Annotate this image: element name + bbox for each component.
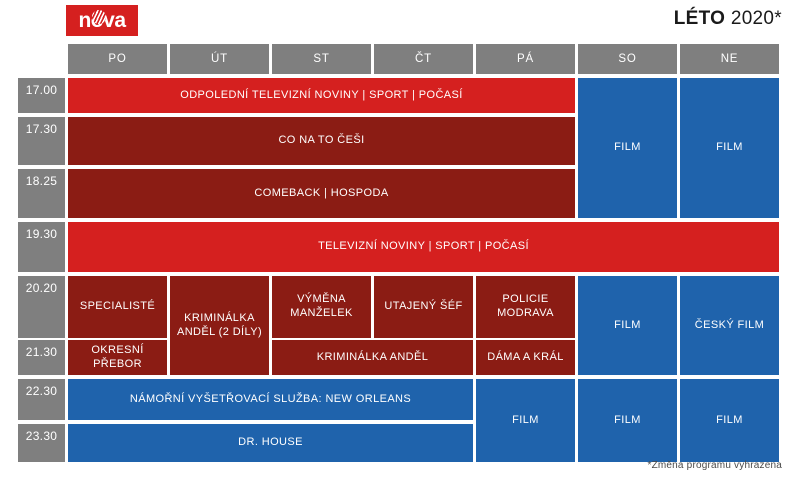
program-cell[interactable]: FILM — [578, 276, 677, 375]
program-cell[interactable]: OKRESNÍ PŘEBOR — [68, 340, 167, 375]
program-cell[interactable]: FILM — [578, 379, 677, 462]
program-cell[interactable]: FILM — [680, 379, 779, 462]
day-header-so: SO — [578, 44, 677, 74]
day-header-ne: NE — [680, 44, 779, 74]
program-cell[interactable]: KRIMINÁLKA ANDĚL — [272, 340, 473, 375]
program-cell[interactable]: NÁMOŘNÍ VYŠETŘOVACÍ SLUŽBA: NEW ORLEANS — [68, 379, 473, 420]
program-cell[interactable]: POLICIE MODRAVA — [476, 276, 575, 338]
time-slot-22-30: 22.30 — [18, 379, 65, 420]
program-cell[interactable]: ČESKÝ FILM — [680, 276, 779, 375]
program-cell[interactable]: FILM — [680, 78, 779, 218]
day-header-pá: PÁ — [476, 44, 575, 74]
program-cell[interactable]: FILM — [578, 78, 677, 218]
footnote: *Změna programu vyhrazena — [647, 460, 782, 471]
program-cell[interactable]: CO NA TO ČEŠI — [68, 117, 575, 165]
time-slot-17-00: 17.00 — [18, 78, 65, 113]
day-header-út: ÚT — [170, 44, 269, 74]
program-cell[interactable]: ODPOLEDNÍ TELEVIZNÍ NOVINY | SPORT | POČ… — [68, 78, 575, 113]
program-cell[interactable]: KRIMINÁLKA ANDĚL (2 DÍLY) — [170, 276, 269, 375]
program-cell[interactable]: COMEBACK | HOSPODA — [68, 169, 575, 218]
program-cell[interactable]: FILM — [476, 379, 575, 462]
day-header-čt: ČT — [374, 44, 473, 74]
day-header-st: ST — [272, 44, 371, 74]
tv-schedule-grid: POÚTSTČTPÁSONE17.0017.3018.2519.3020.202… — [0, 0, 800, 482]
program-cell[interactable]: VÝMĚNA MANŽELEK — [272, 276, 371, 338]
program-cell[interactable]: DR. HOUSE — [68, 424, 473, 462]
program-cell[interactable]: UTAJENÝ ŠÉF — [374, 276, 473, 338]
time-slot-17-30: 17.30 — [18, 117, 65, 165]
program-cell[interactable]: DÁMA A KRÁL — [476, 340, 575, 375]
time-slot-19-30: 19.30 — [18, 222, 65, 272]
time-slot-21-30: 21.30 — [18, 340, 65, 375]
time-slot-20-20: 20.20 — [18, 276, 65, 338]
program-cell[interactable]: SPECIALISTÉ — [68, 276, 167, 338]
day-header-po: PO — [68, 44, 167, 74]
time-slot-18-25: 18.25 — [18, 169, 65, 218]
program-cell[interactable]: TELEVIZNÍ NOVINY | SPORT | POČASÍ — [68, 222, 779, 272]
time-slot-23-30: 23.30 — [18, 424, 65, 462]
